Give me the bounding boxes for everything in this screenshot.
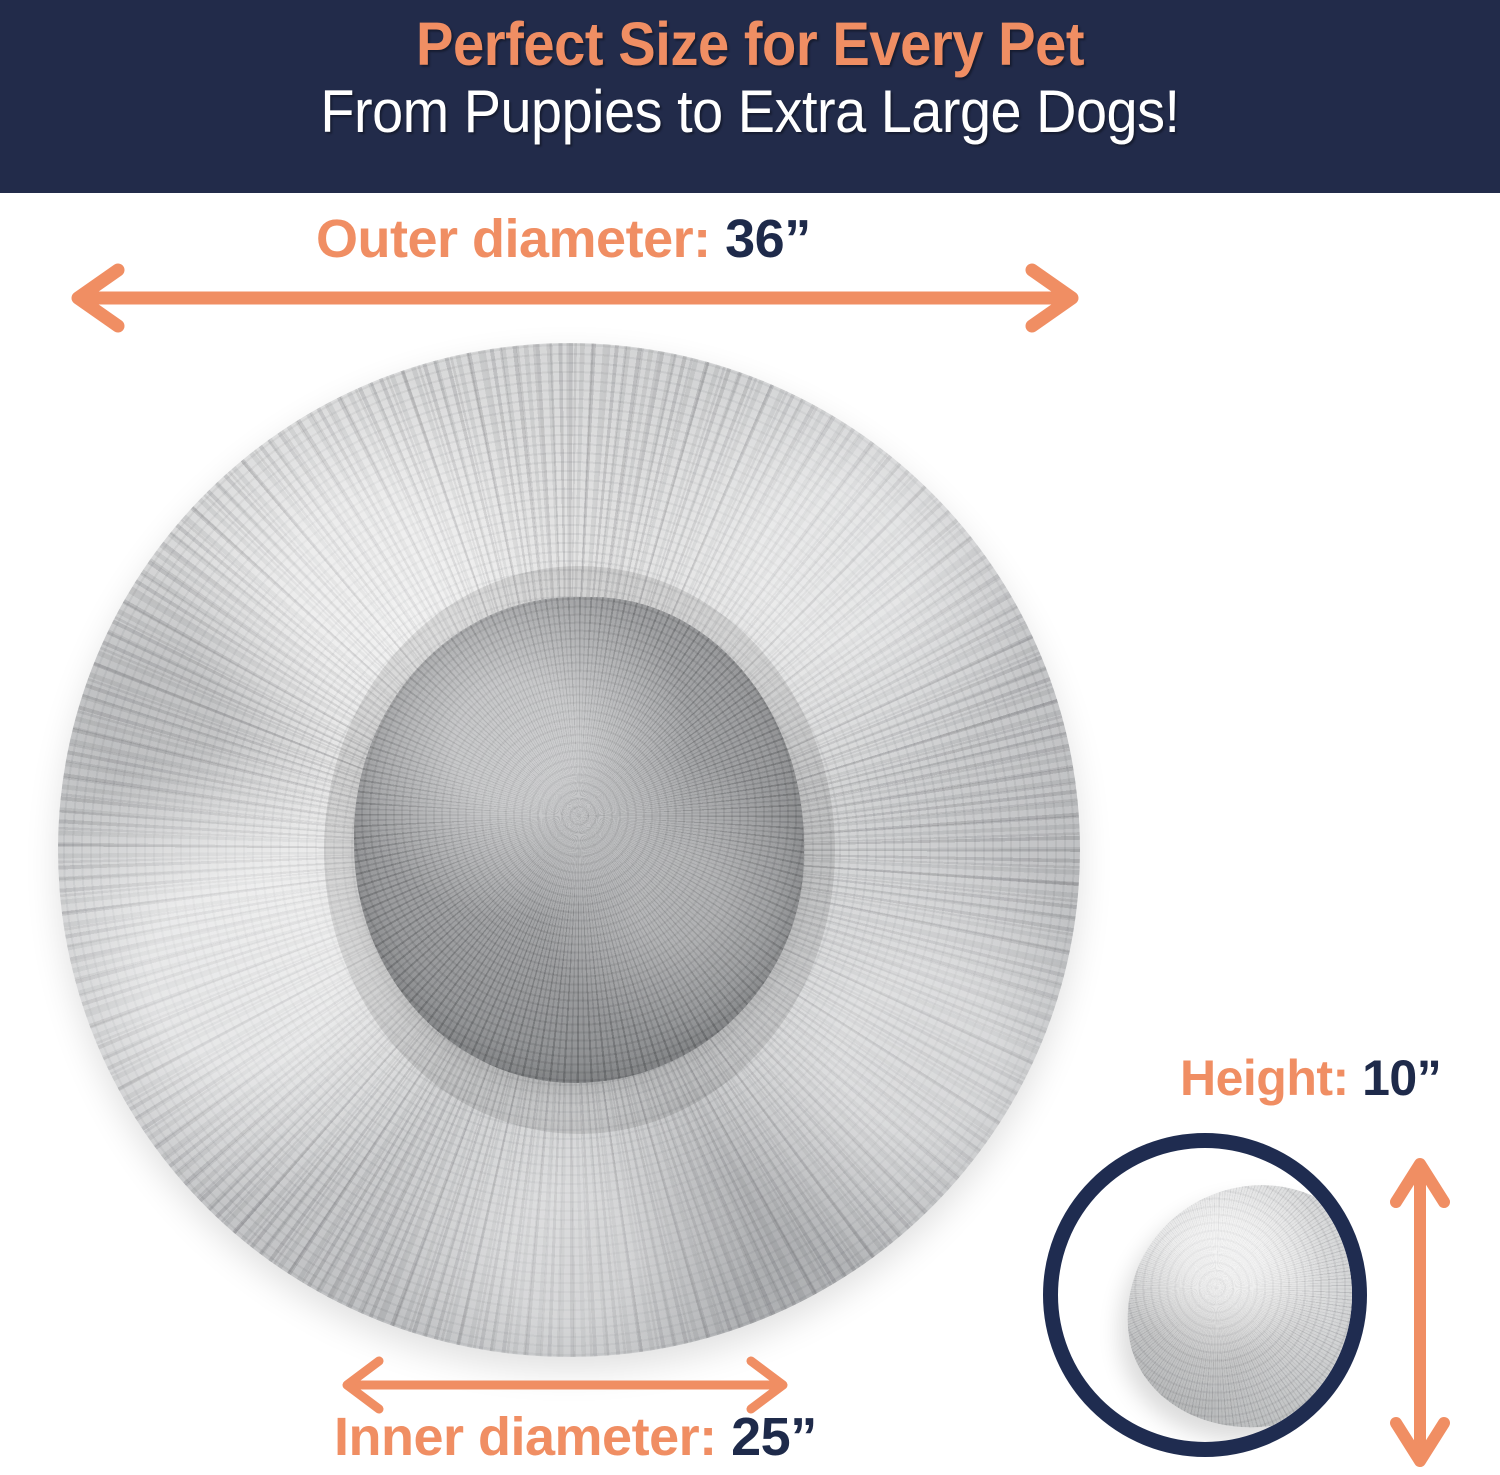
bed-center-cushion	[354, 597, 804, 1084]
inner-diameter-label: Inner diameter: 25”	[334, 1410, 817, 1464]
inner-diameter-arrow	[335, 1355, 795, 1415]
height-arrow	[1385, 1150, 1455, 1475]
height-label: Height: 10”	[1180, 1053, 1441, 1103]
banner-subtitle: From Puppies to Extra Large Dogs!	[320, 80, 1179, 143]
outer-diameter-arrow	[60, 258, 1090, 338]
side-highlight-layer	[1110, 1169, 1367, 1444]
banner-title: Perfect Size for Every Pet	[416, 12, 1084, 76]
infographic-canvas: Perfect Size for Every Pet From Puppies …	[0, 0, 1500, 1475]
cushion-highlight-layer	[354, 597, 804, 1084]
inner-diameter-value: 25”	[731, 1407, 817, 1467]
height-label-text: Height:	[1180, 1050, 1349, 1106]
pet-bed-top-view	[58, 343, 1080, 1357]
height-value: 10”	[1362, 1050, 1441, 1106]
header-banner: Perfect Size for Every Pet From Puppies …	[0, 0, 1500, 193]
pet-bed-side-profile	[1110, 1169, 1367, 1444]
inner-diameter-label-text: Inner diameter:	[334, 1407, 717, 1467]
pet-bed-side-view-badge	[1043, 1133, 1367, 1457]
